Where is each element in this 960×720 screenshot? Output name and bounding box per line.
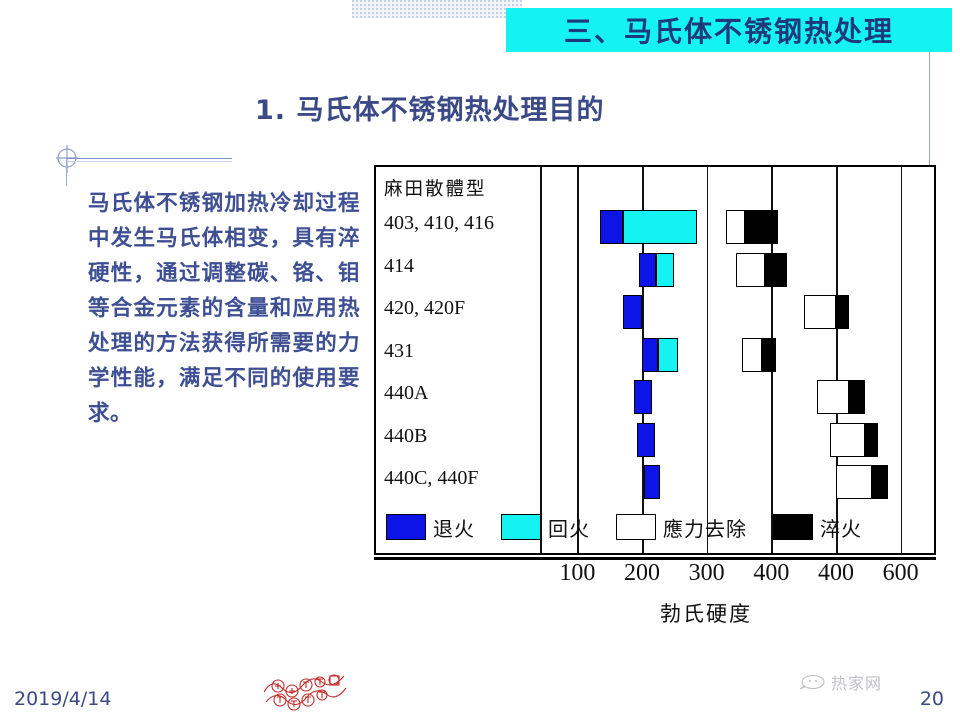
chart-gridline bbox=[577, 167, 579, 553]
chart-bar-segment bbox=[623, 210, 697, 244]
chart-bar-segment bbox=[634, 380, 651, 414]
chart-bar-segment bbox=[637, 423, 655, 457]
chart-bar-segment bbox=[804, 295, 836, 329]
chart-bar-segment bbox=[639, 253, 656, 287]
chart-plot-area: 麻田散體型403, 410, 416414420, 420F431440A440… bbox=[376, 167, 934, 553]
chart-bar-segment bbox=[817, 380, 849, 414]
chart-row-label: 440B bbox=[384, 425, 427, 448]
footer-date: 2019/4/14 bbox=[14, 688, 111, 710]
chart-row-label: 440A bbox=[384, 382, 428, 405]
chart-bar-segment bbox=[742, 338, 761, 372]
chart-bar-segment bbox=[658, 338, 677, 372]
title-underline-rule-secondary bbox=[66, 161, 232, 162]
chart-x-tick-label: 100 bbox=[559, 560, 595, 587]
chart-x-axis-title: 勃氏硬度 bbox=[660, 598, 752, 628]
hardness-chart: 麻田散體型403, 410, 416414420, 420F431440A440… bbox=[374, 165, 936, 555]
chart-bar-segment bbox=[726, 210, 745, 244]
legend-swatch bbox=[501, 514, 541, 540]
legend-item: 應力去除 bbox=[616, 513, 747, 542]
chart-gridline bbox=[901, 167, 903, 553]
slide-title: 1. 马氏体不锈钢热处理目的 bbox=[255, 88, 715, 130]
section-header-bar: 三、马氏体不锈钢热处理 bbox=[506, 8, 952, 52]
chart-bar-segment bbox=[830, 423, 866, 457]
speech-bubble-icon bbox=[800, 674, 826, 690]
chart-bar-segment bbox=[600, 210, 623, 244]
chart-row-label: 440C, 440F bbox=[384, 467, 478, 490]
chart-row-label: 431 bbox=[384, 340, 414, 363]
chart-x-tick-label: 600 bbox=[883, 560, 919, 587]
chart-label-separator bbox=[540, 167, 542, 553]
chart-row-label: 420, 420F bbox=[384, 297, 465, 320]
legend-label: 回火 bbox=[548, 513, 590, 542]
header-vertical-rule bbox=[929, 52, 930, 170]
chart-gridline bbox=[707, 167, 709, 553]
legend-label: 淬火 bbox=[820, 513, 862, 542]
chart-bar-segment bbox=[765, 253, 788, 287]
legend-item: 退火 bbox=[386, 513, 475, 542]
title-underline-rule bbox=[66, 158, 232, 159]
slide-canvas: 三、马氏体不锈钢热处理 1. 马氏体不锈钢热处理目的 马氏体不锈钢加热冷却过程中… bbox=[0, 0, 960, 720]
chart-bar-segment bbox=[836, 465, 872, 499]
site-watermark: 热家网 bbox=[800, 670, 882, 694]
legend-swatch bbox=[386, 514, 426, 540]
legend-label: 應力去除 bbox=[663, 513, 747, 542]
legend-swatch bbox=[773, 514, 813, 540]
red-seal-logo-icon bbox=[258, 662, 350, 716]
chart-bar-segment bbox=[623, 295, 642, 329]
body-paragraph: 马氏体不锈钢加热冷却过程中发生马氏体相变，具有淬硬性，通过调整碳、铬、钼等合金元… bbox=[88, 186, 360, 431]
title-side-rule bbox=[66, 160, 67, 186]
top-decorative-band bbox=[352, 0, 522, 18]
chart-bar-segment bbox=[762, 338, 777, 372]
legend-swatch bbox=[616, 514, 656, 540]
chart-bar-segment bbox=[642, 338, 658, 372]
chart-legend: 退火回火應力去除淬火 bbox=[386, 509, 926, 545]
chart-bar-segment bbox=[865, 423, 878, 457]
chart-bar-segment bbox=[849, 380, 865, 414]
watermark-label: 热家网 bbox=[831, 670, 882, 694]
chart-x-tick-label: 400 bbox=[818, 560, 854, 587]
section-header-title: 三、马氏体不锈钢热处理 bbox=[564, 10, 894, 50]
chart-bar-segment bbox=[656, 253, 674, 287]
chart-bar-segment bbox=[872, 465, 888, 499]
chart-bar-segment bbox=[745, 210, 777, 244]
legend-label: 退火 bbox=[433, 513, 475, 542]
chart-x-tick-label: 300 bbox=[689, 560, 725, 587]
chart-bar-segment bbox=[836, 295, 849, 329]
page-number: 20 bbox=[920, 688, 944, 710]
chart-bar-segment bbox=[736, 253, 765, 287]
legend-item: 淬火 bbox=[773, 513, 862, 542]
chart-bar-segment bbox=[644, 465, 660, 499]
chart-x-tick-label: 200 bbox=[624, 560, 660, 587]
legend-item: 回火 bbox=[501, 513, 590, 542]
chart-x-tick-label: 400 bbox=[753, 560, 789, 587]
crosshair-decoration-icon bbox=[56, 145, 78, 173]
chart-group-header: 麻田散體型 bbox=[384, 175, 487, 201]
chart-row-label: 403, 410, 416 bbox=[384, 212, 494, 235]
chart-row-label: 414 bbox=[384, 255, 414, 278]
